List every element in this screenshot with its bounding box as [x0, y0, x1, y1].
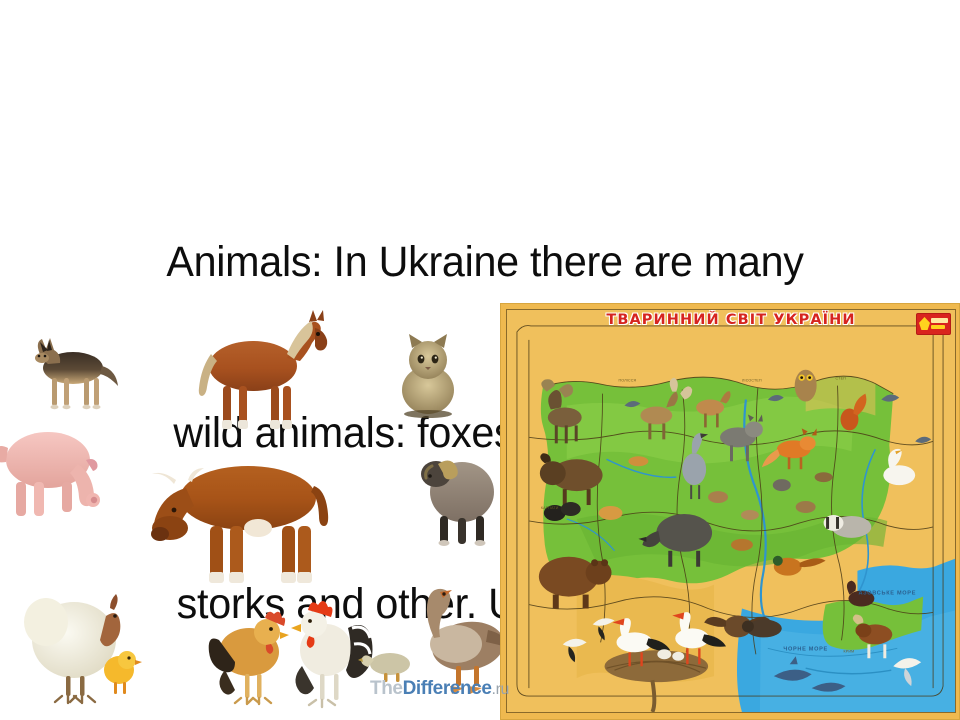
region-label-lisostep: ЛІСОСТЕП — [742, 379, 762, 383]
watermark-the: The — [370, 678, 403, 699]
cat-image — [388, 328, 468, 423]
region-label-krym: КРИМ — [843, 649, 854, 653]
logo-wordmark-top — [931, 318, 948, 323]
azov-sea-label: АЗОВСЬКЕ МОРЕ — [858, 591, 916, 597]
pig-image — [0, 412, 120, 532]
cow-image — [130, 440, 345, 600]
slide-canvas: Animals: In Ukraine there are many wild … — [0, 0, 960, 720]
watermark: TheDifference.ru — [370, 678, 509, 700]
region-label-polissia: ПОЛІССЯ — [619, 379, 637, 383]
horse-image — [175, 306, 335, 441]
watermark-difference: Difference — [403, 678, 492, 699]
region-label-step: СТЕП — [836, 377, 847, 381]
map-graphic: ЧОРНЕ МОРЕ АЗОВСЬКЕ МОРЕ ПОЛІССЯ ЛІСОСТЕ… — [507, 310, 955, 712]
animal-collage — [0, 300, 520, 720]
map-frame: ЧОРНЕ МОРЕ АЗОВСЬКЕ МОРЕ ПОЛІССЯ ЛІСОСТЕ… — [506, 309, 956, 713]
black-sea-label: ЧОРНЕ МОРЕ — [783, 646, 828, 652]
logo-wordmark-bottom — [931, 325, 945, 329]
map-title: ТВАРИННИЙ СВІТ УКРАЇНИ — [507, 312, 955, 328]
logo-mark-icon — [919, 317, 930, 330]
chick-image — [98, 646, 142, 698]
region-label-karpaty: КАРПАТИ — [541, 506, 559, 510]
ukraine-wildlife-map: ЧОРНЕ МОРЕ АЗОВСЬКЕ МОРЕ ПОЛІССЯ ЛІСОСТЕ… — [500, 303, 960, 720]
headline-line-1: Animals: In Ukraine there are many — [87, 234, 884, 291]
owl-illustration — [795, 370, 817, 402]
sheep-image — [408, 440, 508, 550]
watermark-tld: .ru — [492, 681, 509, 698]
ranok-publisher-logo — [916, 313, 951, 335]
